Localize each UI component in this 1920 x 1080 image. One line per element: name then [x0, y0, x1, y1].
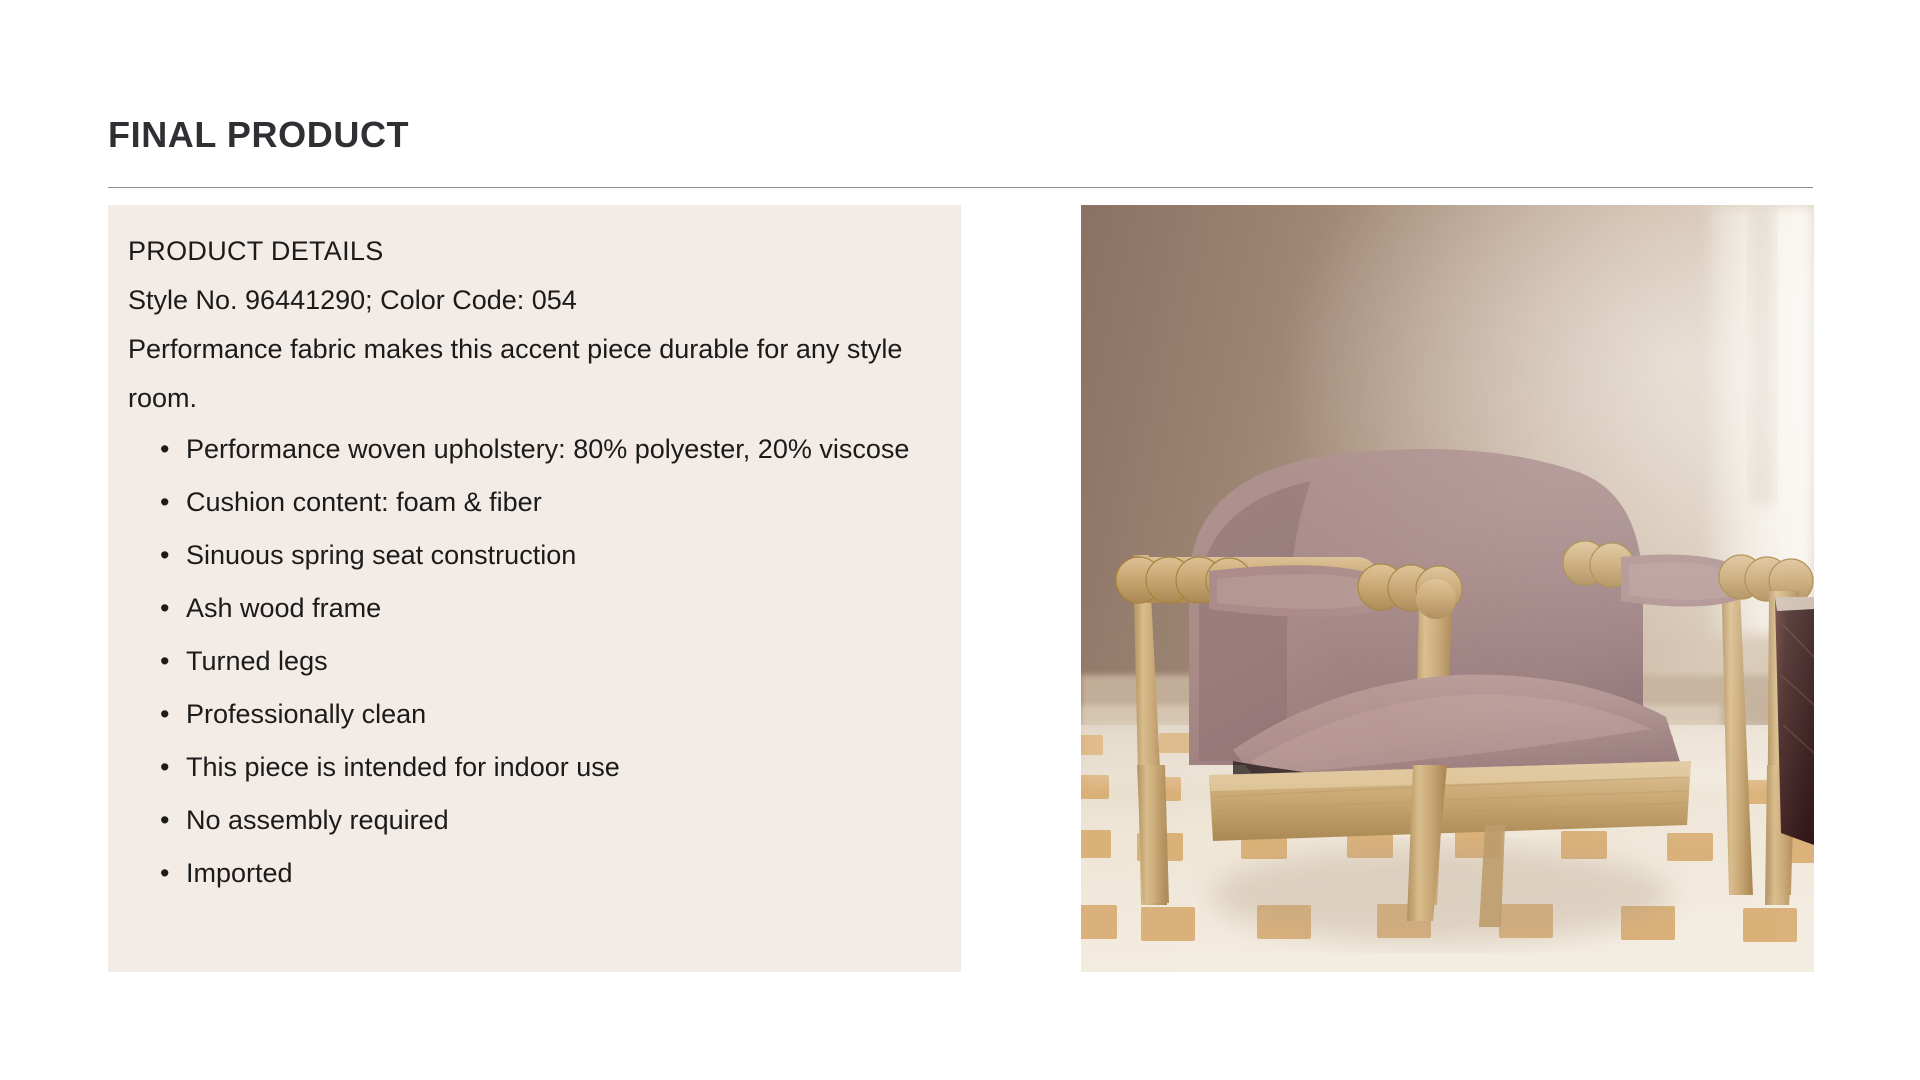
list-item: Imported: [128, 847, 927, 900]
list-item: Ash wood frame: [128, 582, 927, 635]
slide-canvas: FINAL PRODUCT PRODUCT DETAILS Style No. …: [0, 0, 1920, 1080]
list-item: Sinuous spring seat construction: [128, 529, 927, 582]
product-photo-image: [1081, 205, 1814, 972]
page-title: FINAL PRODUCT: [108, 116, 409, 154]
product-details-heading: PRODUCT DETAILS: [128, 227, 927, 276]
product-details-panel: PRODUCT DETAILS Style No. 96441290; Colo…: [108, 205, 961, 972]
product-description: Performance fabric makes this accent pie…: [128, 325, 927, 423]
list-item: Performance woven upholstery: 80% polyes…: [128, 423, 927, 476]
list-item: Turned legs: [128, 635, 927, 688]
title-divider: [108, 187, 1813, 188]
style-number-line: Style No. 96441290; Color Code: 054: [128, 276, 927, 325]
list-item: Professionally clean: [128, 688, 927, 741]
product-photo: [1081, 205, 1814, 972]
list-item: This piece is intended for indoor use: [128, 741, 927, 794]
product-feature-list: Performance woven upholstery: 80% polyes…: [128, 423, 927, 900]
list-item: No assembly required: [128, 794, 927, 847]
list-item: Cushion content: foam & fiber: [128, 476, 927, 529]
